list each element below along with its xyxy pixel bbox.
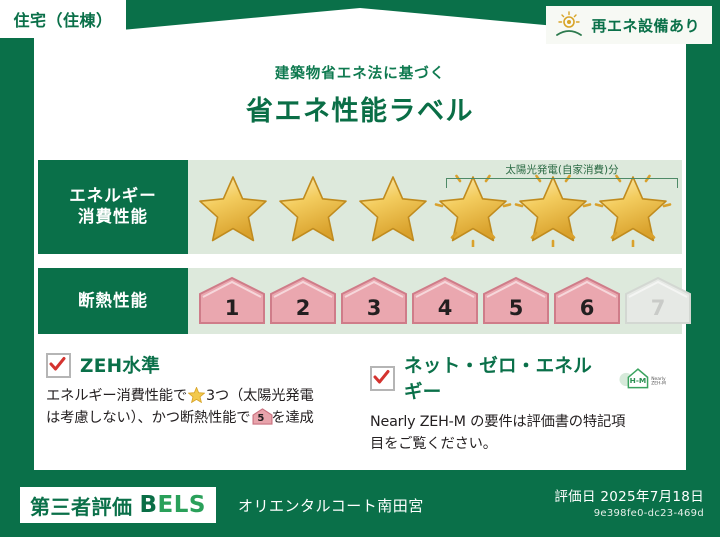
insulation-grade-value: 6 xyxy=(580,296,595,326)
renewable-equipment-badge: 再エネ設備あり xyxy=(546,6,712,44)
page-title: 省エネ性能ラベル xyxy=(0,89,720,128)
insulation-performance-label: 断熱性能 xyxy=(38,268,188,334)
nze-checkbox[interactable] xyxy=(370,366,395,391)
energy-performance-row: エネルギー 消費性能 太陽光発電(自家消費)分 xyxy=(36,158,684,256)
insulation-grade-scale: 1234567 xyxy=(188,276,692,326)
insulation-grade-value: 1 xyxy=(225,296,240,326)
zeh-check-title: ZEH水準 xyxy=(80,352,160,378)
nze-check-title: ネット・ゼロ・エネルギー xyxy=(404,352,605,404)
evaluation-date: 評価日 2025年7月18日 xyxy=(554,485,704,505)
inline-star-icon xyxy=(188,387,205,403)
check-icon xyxy=(373,369,390,386)
energy-label-line1: エネルギー xyxy=(69,186,157,207)
insulation-grade-value: 7 xyxy=(651,296,666,326)
title-block: 建築物省エネ法に基づく 省エネ性能ラベル xyxy=(0,62,720,128)
zeh-desc-part4: を達成 xyxy=(271,410,313,426)
bels-certification-badge: 第三者評価 BELS xyxy=(20,487,216,523)
insulation-grade-value: 2 xyxy=(296,296,311,326)
insulation-performance-row: 断熱性能 1234567 xyxy=(36,266,684,336)
insulation-grade-house: 6 xyxy=(553,276,621,326)
zeh-desc-part2: 3つ（太陽光発電 xyxy=(206,388,314,404)
nze-desc-part1: Nearly ZEH-M の要件は評価書の特記項 xyxy=(370,414,625,430)
energy-performance-label: エネルギー 消費性能 xyxy=(38,160,188,254)
bels-en-label: BELS xyxy=(140,492,206,518)
insulation-grade-value: 3 xyxy=(367,296,382,326)
nze-check-header: ネット・ゼロ・エネルギー H-M Nearly ZEH-M xyxy=(370,352,670,404)
insulation-grade-house: 2 xyxy=(269,276,337,326)
building-type-label: 住宅（住棟） xyxy=(13,7,112,31)
energy-rating-body: 太陽光発電(自家消費)分 xyxy=(188,160,682,254)
svg-text:ZEH-M: ZEH-M xyxy=(652,381,667,387)
nze-check-description: Nearly ZEH-M の要件は評価書の特記項目をご覧ください。 xyxy=(370,411,670,455)
insulation-grade-value: 5 xyxy=(509,296,524,326)
sun-solar-icon xyxy=(554,11,584,39)
star-icon xyxy=(354,173,432,247)
certification-checks: ZEH水準 エネルギー消費性能で3つ（太陽光発電は考慮しない）、かつ断熱性能で5… xyxy=(36,352,684,455)
nearly-zeh-m-logo-icon: H-M Nearly ZEH-M xyxy=(618,365,670,391)
renewable-equipment-label: 再エネ設備あり xyxy=(591,15,700,36)
insulation-grade-house: 4 xyxy=(411,276,479,326)
svg-text:H-M: H-M xyxy=(630,376,647,385)
insulation-grade-house: 3 xyxy=(340,276,408,326)
footer-bar: 第三者評価 BELS オリエンタルコート南田宮 評価日 2025年7月18日 9… xyxy=(0,477,720,537)
insulation-grade-house: 1 xyxy=(198,276,266,326)
zeh-standard-check: ZEH水準 エネルギー消費性能で3つ（太陽光発電は考慮しない）、かつ断熱性能で5… xyxy=(36,352,360,455)
zeh-check-description: エネルギー消費性能で3つ（太陽光発電は考慮しない）、かつ断熱性能で5を達成 xyxy=(46,385,346,429)
bels-jp-label: 第三者評価 xyxy=(30,491,133,520)
building-type-badge: 住宅（住棟） xyxy=(0,0,126,38)
zeh-checkbox[interactable] xyxy=(46,353,71,378)
solar-contribution-annotation: 太陽光発電(自家消費)分 xyxy=(446,162,678,188)
bels-label-root: 住宅（住棟） 再エネ設備あり 建築物省エネ法に基づく 省エネ性能ラベル エネルギ… xyxy=(0,0,720,537)
solar-annotation-text: 太陽光発電(自家消費)分 xyxy=(446,162,678,177)
inline-house-badge: 5 xyxy=(250,408,271,425)
bels-letter-b: B xyxy=(140,492,158,518)
energy-label-line2: 消費性能 xyxy=(78,207,148,228)
insulation-grade-house-inactive: 7 xyxy=(624,276,692,326)
solar-bracket xyxy=(446,178,678,188)
insulation-grade-house: 5 xyxy=(482,276,550,326)
evaluation-info: 評価日 2025年7月18日 9e398fe0-dc23-469d xyxy=(554,485,704,519)
label-subtitle: 建築物省エネ法に基づく xyxy=(0,62,720,83)
bels-letters-els: ELS xyxy=(158,492,206,518)
zeh-desc-part3: は考慮しない）、かつ断熱性能で xyxy=(46,410,250,426)
building-name: オリエンタルコート南田宮 xyxy=(238,495,424,516)
check-icon xyxy=(49,356,66,373)
zeh-desc-part1: エネルギー消費性能で xyxy=(46,388,187,404)
nze-desc-part2: 目をご覧ください。 xyxy=(370,436,497,452)
star-icon xyxy=(274,173,352,247)
zeh-check-header: ZEH水準 xyxy=(46,352,346,378)
insulation-grade-value: 4 xyxy=(438,296,453,326)
evaluation-id: 9e398fe0-dc23-469d xyxy=(554,508,704,519)
net-zero-energy-check: ネット・ゼロ・エネルギー H-M Nearly ZEH-M Nearly ZEH… xyxy=(360,352,684,455)
insulation-grade-body: 1234567 xyxy=(188,268,692,334)
insulation-label-text: 断熱性能 xyxy=(78,291,148,312)
inline-house-value: 5 xyxy=(250,408,271,425)
star-icon xyxy=(194,173,272,247)
